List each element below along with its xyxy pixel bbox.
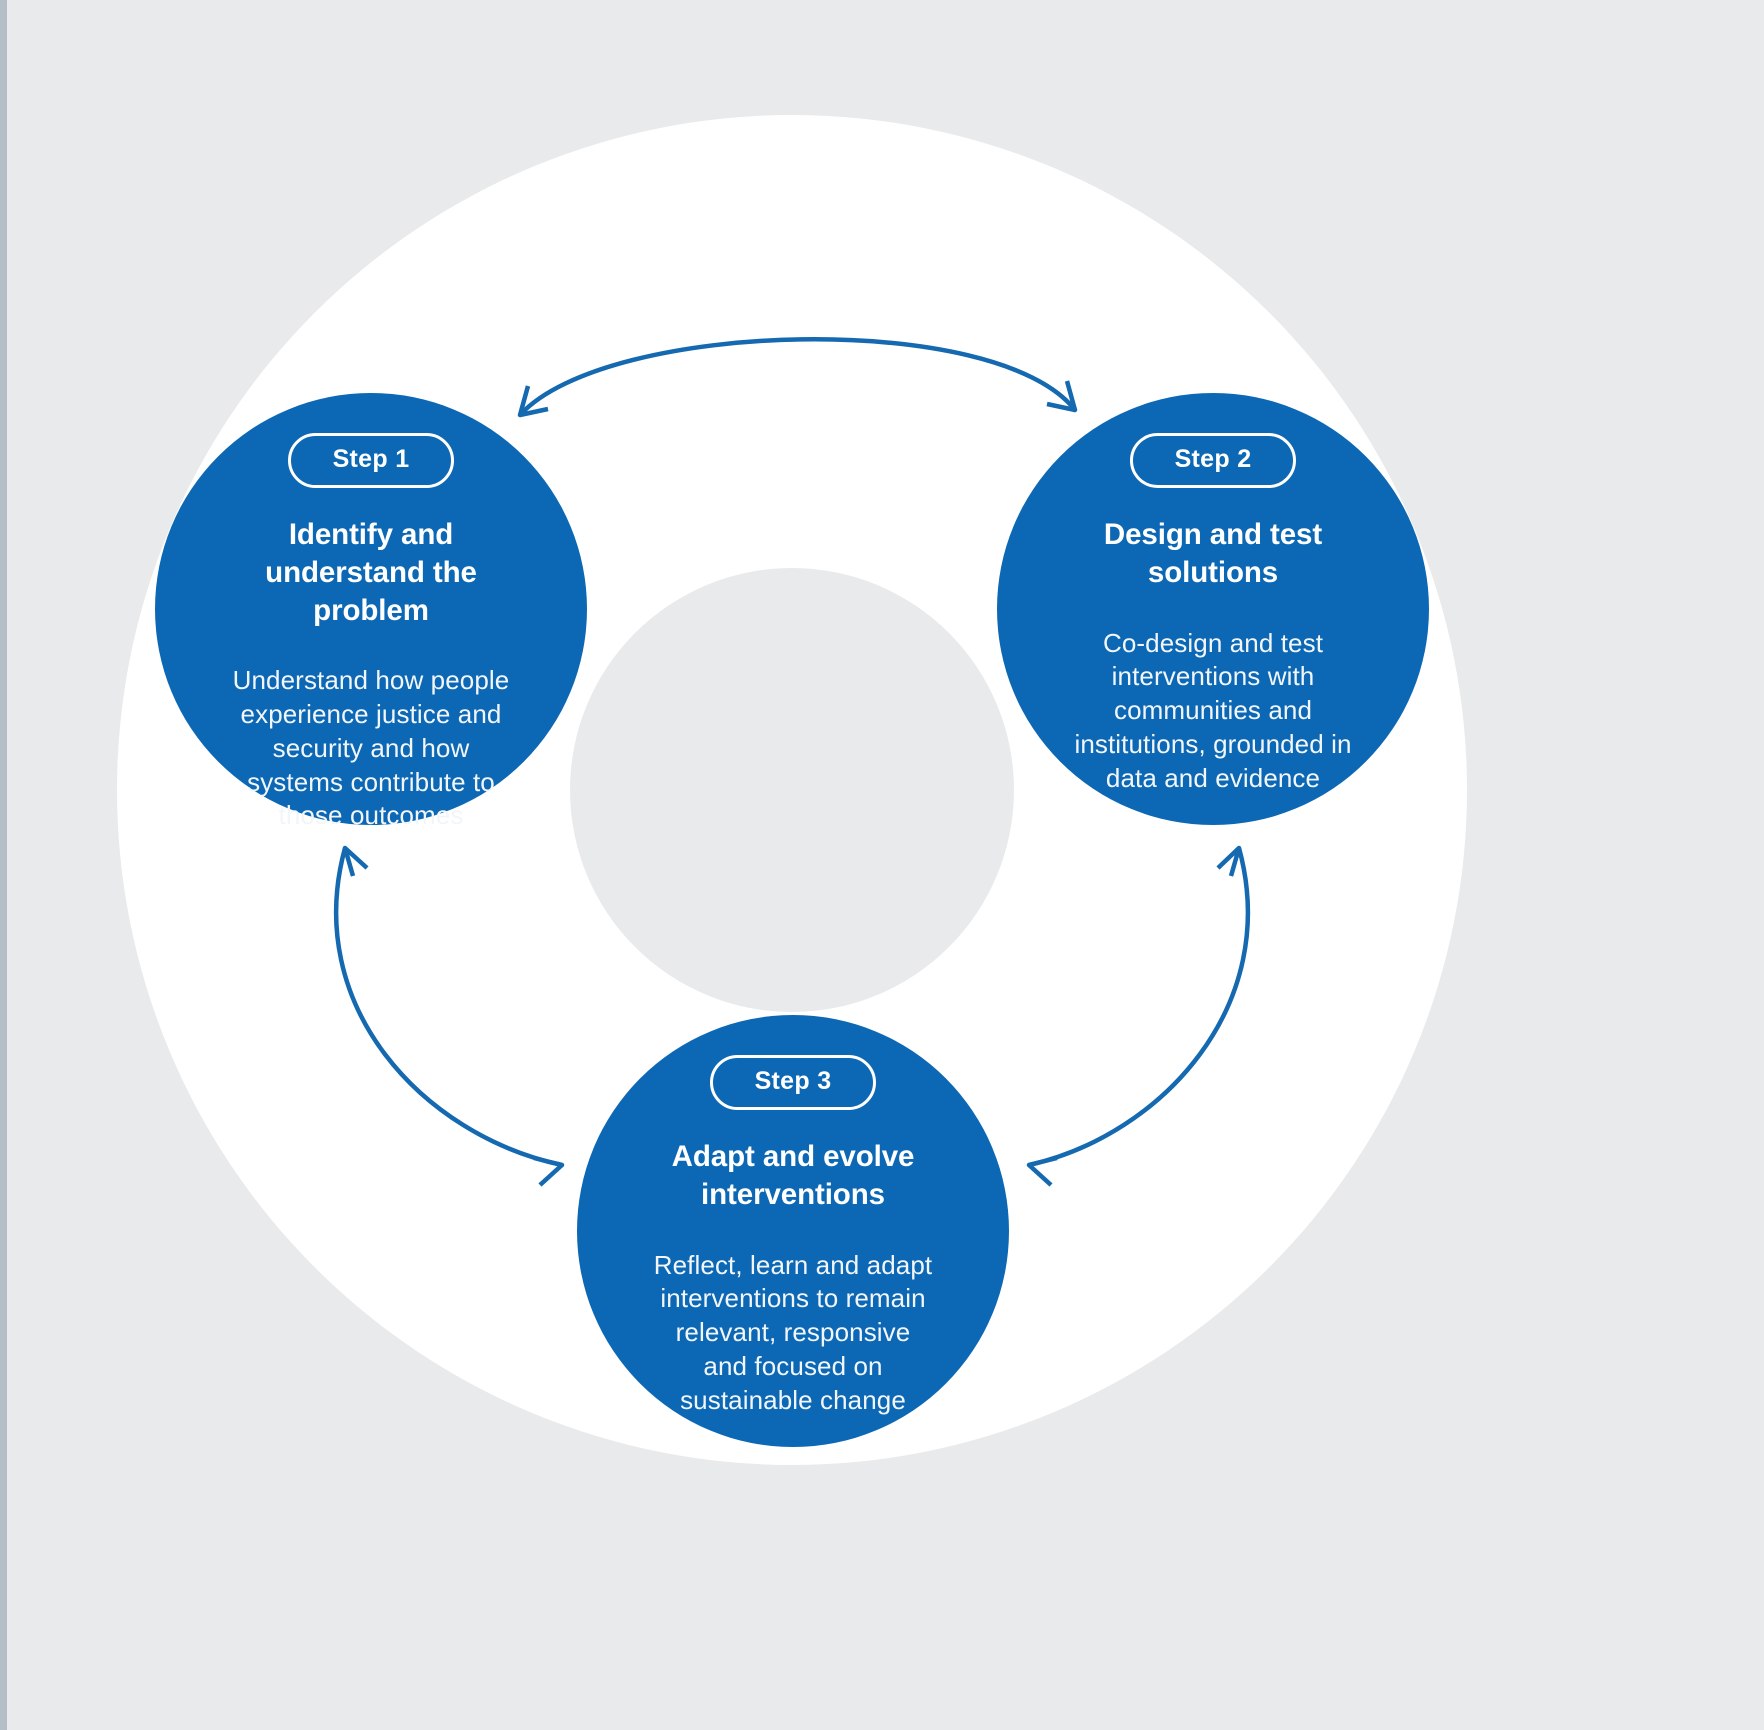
step-title-1: Identify and understand the problem — [211, 516, 531, 629]
diagram-canvas: Step 1 Identify and understand the probl… — [0, 0, 1764, 1730]
step-badge-1: Step 1 — [288, 433, 455, 488]
step-node-1[interactable]: Step 1 Identify and understand the probl… — [155, 393, 587, 825]
step-body-2: Co-design and test interventions with co… — [1048, 627, 1378, 796]
step-title-2: Design and test solutions — [1088, 516, 1338, 592]
step-body-1: Understand how people experience justice… — [226, 664, 516, 833]
step-node-3[interactable]: Step 3 Adapt and evolve interventions Re… — [577, 1015, 1009, 1447]
cycle-diagram-graphics — [7, 0, 1764, 1730]
step-body-3: Reflect, learn and adapt interventions t… — [653, 1249, 933, 1418]
step-title-3: Adapt and evolve interventions — [668, 1138, 918, 1214]
inner-hub-shape — [570, 568, 1014, 1012]
step-badge-3: Step 3 — [710, 1055, 877, 1110]
step-badge-2: Step 2 — [1130, 433, 1297, 488]
step-node-2[interactable]: Step 2 Design and test solutions Co-desi… — [997, 393, 1429, 825]
